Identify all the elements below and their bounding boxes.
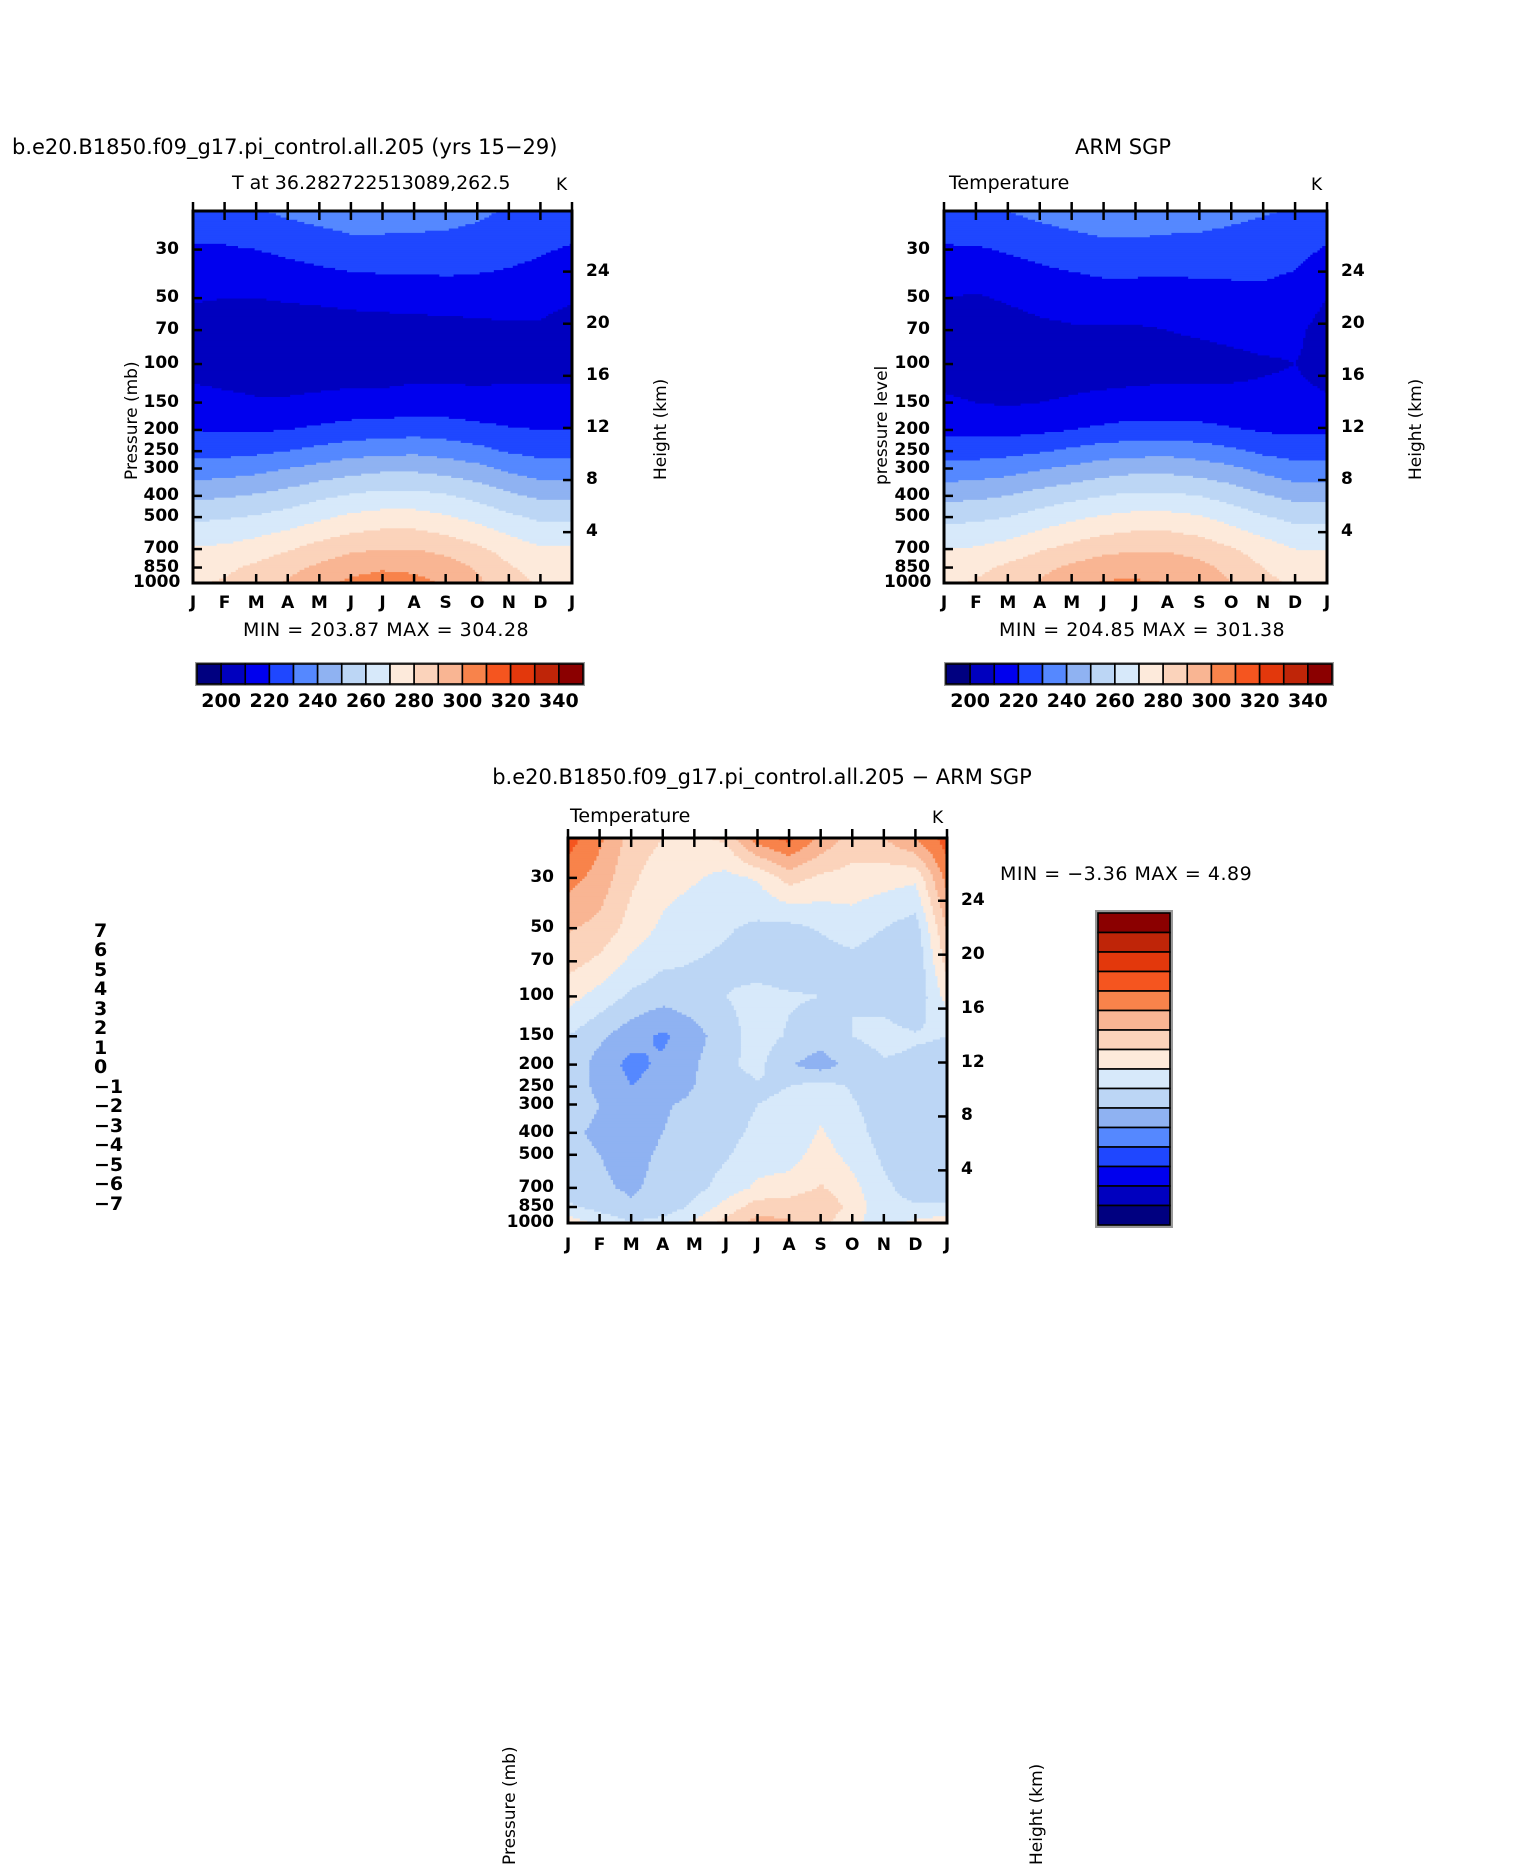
month-tick-11: D — [903, 1235, 927, 1255]
pressure-tick-500: 500 — [884, 506, 930, 526]
difference-colorbar-label-14: −7 — [94, 1193, 123, 1215]
month-tick-10: N — [497, 593, 521, 613]
height-tick-20: 20 — [586, 313, 610, 333]
height-tick-24: 24 — [961, 890, 985, 910]
pressure-tick-100: 100 — [133, 353, 179, 373]
month-tick-9: O — [465, 593, 489, 613]
month-tick-4: M — [682, 1235, 706, 1255]
pressure-tick-50: 50 — [884, 287, 930, 307]
diff-y-axis-label: Pressure (mb) — [500, 1746, 520, 1865]
pressure-tick-700: 700 — [133, 538, 179, 558]
month-tick-9: O — [1219, 593, 1243, 613]
month-tick-8: S — [809, 1235, 833, 1255]
month-tick-6: J — [371, 593, 395, 613]
temperature-colorbar-label-340: 340 — [1278, 690, 1338, 712]
month-tick-2: M — [996, 593, 1020, 613]
diff-y2-axis-label: Height (km) — [1027, 1764, 1047, 1865]
month-tick-12: J — [935, 1235, 959, 1255]
month-tick-5: J — [714, 1235, 738, 1255]
month-tick-4: M — [307, 593, 331, 613]
month-tick-10: N — [872, 1235, 896, 1255]
pressure-tick-400: 400 — [884, 485, 930, 505]
month-tick-1: F — [213, 593, 237, 613]
month-tick-10: N — [1251, 593, 1275, 613]
pressure-tick-100: 100 — [506, 985, 554, 1005]
month-tick-7: A — [777, 1235, 801, 1255]
height-tick-8: 8 — [586, 469, 598, 489]
pressure-tick-30: 30 — [884, 239, 930, 259]
pressure-tick-400: 400 — [133, 485, 179, 505]
panel-model: b.e20.B1850.f09_g17.pi_control.all.205 (… — [0, 0, 760, 740]
pressure-tick-100: 100 — [884, 353, 930, 373]
pressure-tick-700: 700 — [506, 1177, 554, 1197]
month-tick-2: M — [619, 1235, 643, 1255]
month-tick-11: D — [1283, 593, 1307, 613]
pressure-tick-1000: 1000 — [884, 572, 930, 592]
height-tick-8: 8 — [1341, 469, 1353, 489]
pressure-tick-150: 150 — [884, 392, 930, 412]
month-tick-12: J — [560, 593, 584, 613]
month-tick-3: A — [1028, 593, 1052, 613]
diff-colorbar[interactable] — [1090, 905, 1340, 1245]
pressure-tick-50: 50 — [506, 917, 554, 937]
pressure-tick-70: 70 — [884, 319, 930, 339]
month-tick-8: S — [1187, 593, 1211, 613]
month-tick-1: F — [588, 1235, 612, 1255]
pressure-tick-30: 30 — [133, 239, 179, 259]
panel-difference: b.e20.B1850.f09_g17.pi_control.all.205 −… — [0, 740, 1524, 1300]
obs-contour-plot — [750, 0, 1524, 620]
month-tick-6: J — [1124, 593, 1148, 613]
height-tick-16: 16 — [586, 365, 610, 385]
month-tick-0: J — [181, 593, 205, 613]
pressure-tick-200: 200 — [884, 419, 930, 439]
obs-minmax-text: MIN = 204.85 MAX = 301.38 — [999, 619, 1285, 641]
month-tick-1: F — [964, 593, 988, 613]
height-tick-24: 24 — [586, 261, 610, 281]
pressure-tick-400: 400 — [506, 1122, 554, 1142]
model-contour-plot — [0, 0, 760, 620]
pressure-tick-1000: 1000 — [133, 572, 179, 592]
month-tick-8: S — [434, 593, 458, 613]
pressure-tick-200: 200 — [506, 1054, 554, 1074]
height-tick-16: 16 — [961, 998, 985, 1018]
panel-obs: ARM SGP Temperature K pressure level Hei… — [750, 0, 1524, 740]
pressure-tick-150: 150 — [506, 1025, 554, 1045]
height-tick-12: 12 — [586, 417, 610, 437]
month-tick-3: A — [276, 593, 300, 613]
month-tick-2: M — [244, 593, 268, 613]
pressure-tick-50: 50 — [133, 287, 179, 307]
month-tick-3: A — [651, 1235, 675, 1255]
month-tick-9: O — [840, 1235, 864, 1255]
pressure-tick-300: 300 — [884, 458, 930, 478]
month-tick-4: M — [1060, 593, 1084, 613]
height-tick-12: 12 — [961, 1052, 985, 1072]
pressure-tick-700: 700 — [884, 538, 930, 558]
pressure-tick-300: 300 — [506, 1094, 554, 1114]
height-tick-4: 4 — [961, 1159, 973, 1179]
month-tick-12: J — [1315, 593, 1339, 613]
pressure-tick-200: 200 — [133, 419, 179, 439]
pressure-tick-1000: 1000 — [506, 1212, 554, 1232]
pressure-tick-30: 30 — [506, 867, 554, 887]
height-tick-4: 4 — [1341, 521, 1353, 541]
height-tick-24: 24 — [1341, 261, 1365, 281]
month-tick-0: J — [932, 593, 956, 613]
height-tick-4: 4 — [586, 521, 598, 541]
model-minmax-text: MIN = 203.87 MAX = 304.28 — [243, 619, 529, 641]
pressure-tick-300: 300 — [133, 458, 179, 478]
pressure-tick-500: 500 — [506, 1144, 554, 1164]
temperature-colorbar-label-340: 340 — [529, 690, 589, 712]
month-tick-7: A — [402, 593, 426, 613]
month-tick-11: D — [528, 593, 552, 613]
pressure-tick-70: 70 — [133, 319, 179, 339]
month-tick-6: J — [746, 1235, 770, 1255]
month-tick-5: J — [1092, 593, 1116, 613]
height-tick-20: 20 — [1341, 313, 1365, 333]
pressure-tick-150: 150 — [133, 392, 179, 412]
month-tick-5: J — [339, 593, 363, 613]
height-tick-20: 20 — [961, 944, 985, 964]
height-tick-12: 12 — [1341, 417, 1365, 437]
month-tick-0: J — [556, 1235, 580, 1255]
height-tick-8: 8 — [961, 1105, 973, 1125]
pressure-tick-70: 70 — [506, 950, 554, 970]
diff-minmax-text: MIN = −3.36 MAX = 4.89 — [1000, 863, 1252, 885]
height-tick-16: 16 — [1341, 365, 1365, 385]
month-tick-7: A — [1155, 593, 1179, 613]
pressure-tick-500: 500 — [133, 506, 179, 526]
